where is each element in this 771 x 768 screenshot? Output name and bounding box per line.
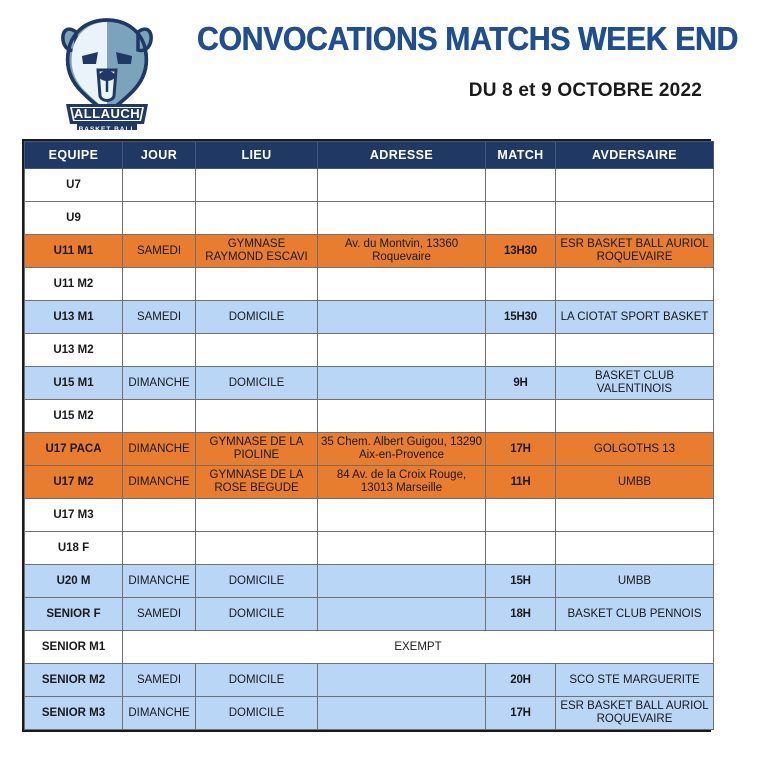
cell-adresse: [318, 301, 486, 334]
table-row: U15 M1DIMANCHEDOMICILE9HBASKET CLUB VALE…: [25, 367, 714, 400]
bear-head-icon: ALLAUCH BASKET BALL: [52, 12, 162, 130]
table-row: U11 M1SAMEDIGYMNASE RAYMOND ESCAVIAv. du…: [25, 235, 714, 268]
cell-adversaire: LA CIOTAT SPORT BASKET: [556, 301, 714, 334]
logo-club-name: ALLAUCH: [74, 106, 140, 121]
club-logo: ALLAUCH BASKET BALL: [52, 12, 162, 130]
cell-lieu: DOMICILE: [196, 565, 318, 598]
cell-adresse: 84 Av. de la Croix Rouge, 13013 Marseill…: [318, 466, 486, 499]
cell-lieu: [196, 400, 318, 433]
cell-match: [486, 169, 556, 202]
cell-lieu: [196, 532, 318, 565]
column-header-match: MATCH: [486, 142, 556, 169]
cell-match: [486, 499, 556, 532]
cell-equipe: U11 M1: [25, 235, 123, 268]
cell-equipe: SENIOR M2: [25, 664, 123, 697]
cell-adresse: [318, 334, 486, 367]
cell-lieu: GYMNASE DE LA PIOLINE: [196, 433, 318, 466]
table-row: U17 M2DIMANCHEGYMNASE DE LA ROSE BEGUDE8…: [25, 466, 714, 499]
table-row: U15 M2: [25, 400, 714, 433]
cell-adresse: [318, 598, 486, 631]
column-header-jour: JOUR: [123, 142, 196, 169]
cell-match: [486, 532, 556, 565]
cell-equipe: U11 M2: [25, 268, 123, 301]
cell-adversaire: BASKET CLUB VALENTINOIS: [556, 367, 714, 400]
table-row: U20 MDIMANCHEDOMICILE15HUMBB: [25, 565, 714, 598]
cell-match: 15H30: [486, 301, 556, 334]
column-header-equipe: EQUIPE: [25, 142, 123, 169]
cell-match: 17H: [486, 697, 556, 730]
cell-adversaire: [556, 268, 714, 301]
cell-jour: [123, 334, 196, 367]
cell-match: 18H: [486, 598, 556, 631]
cell-jour: [123, 400, 196, 433]
cell-adresse: [318, 565, 486, 598]
cell-adresse: [318, 499, 486, 532]
cell-adresse: [318, 664, 486, 697]
cell-lieu: DOMICILE: [196, 301, 318, 334]
cell-jour: DIMANCHE: [123, 697, 196, 730]
cell-adversaire: UMBB: [556, 565, 714, 598]
table-row: SENIOR FSAMEDIDOMICILE18HBASKET CLUB PEN…: [25, 598, 714, 631]
cell-adversaire: [556, 202, 714, 235]
cell-lieu: GYMNASE DE LA ROSE BEGUDE: [196, 466, 318, 499]
cell-adresse: 35 Chem. Albert Guigou, 13290 Aix-en-Pro…: [318, 433, 486, 466]
cell-jour: SAMEDI: [123, 301, 196, 334]
cell-adversaire: SCO STE MARGUERITE: [556, 664, 714, 697]
cell-lieu: [196, 169, 318, 202]
cell-adversaire: [556, 334, 714, 367]
table-row: U17 M3: [25, 499, 714, 532]
schedule-table-container: EQUIPEJOURLIEUADRESSEMATCHAVDERSAIRE U7U…: [22, 139, 711, 732]
table-row: U13 M1SAMEDIDOMICILE15H30LA CIOTAT SPORT…: [25, 301, 714, 334]
cell-jour: DIMANCHE: [123, 466, 196, 499]
schedule-table: EQUIPEJOURLIEUADRESSEMATCHAVDERSAIRE U7U…: [24, 141, 714, 730]
cell-lieu: [196, 268, 318, 301]
cell-equipe: U13 M2: [25, 334, 123, 367]
cell-equipe: U9: [25, 202, 123, 235]
cell-jour: SAMEDI: [123, 598, 196, 631]
table-header-row: EQUIPEJOURLIEUADRESSEMATCHAVDERSAIRE: [25, 142, 714, 169]
cell-equipe: U15 M2: [25, 400, 123, 433]
cell-equipe: U17 M3: [25, 499, 123, 532]
page-subtitle-date: DU 8 et 9 OCTOBRE 2022: [175, 80, 720, 102]
cell-equipe: SENIOR M1: [25, 631, 123, 664]
table-row: U18 F: [25, 532, 714, 565]
cell-match: 9H: [486, 367, 556, 400]
cell-adversaire: UMBB: [556, 466, 714, 499]
cell-adversaire: [556, 499, 714, 532]
cell-lieu: DOMICILE: [196, 598, 318, 631]
cell-adversaire: ESR BASKET BALL AURIOL ROQUEVAIRE: [556, 235, 714, 268]
cell-jour: [123, 499, 196, 532]
cell-adversaire: BASKET CLUB PENNOIS: [556, 598, 714, 631]
cell-equipe: U17 M2: [25, 466, 123, 499]
cell-adresse: [318, 367, 486, 400]
page-title: CONVOCATIONS MATCHS WEEK END: [197, 20, 698, 58]
cell-equipe: U15 M1: [25, 367, 123, 400]
cell-jour: [123, 202, 196, 235]
cell-equipe: SENIOR F: [25, 598, 123, 631]
cell-match: [486, 400, 556, 433]
table-row: U11 M2: [25, 268, 714, 301]
cell-equipe: SENIOR M3: [25, 697, 123, 730]
cell-match: 20H: [486, 664, 556, 697]
cell-match: [486, 202, 556, 235]
cell-equipe: U18 F: [25, 532, 123, 565]
cell-adversaire: GOLGOTHS 13: [556, 433, 714, 466]
cell-lieu: DOMICILE: [196, 697, 318, 730]
cell-lieu: [196, 334, 318, 367]
cell-equipe: U13 M1: [25, 301, 123, 334]
table-row: SENIOR M3DIMANCHEDOMICILE17HESR BASKET B…: [25, 697, 714, 730]
cell-adversaire: [556, 169, 714, 202]
cell-adresse: [318, 697, 486, 730]
cell-jour: DIMANCHE: [123, 565, 196, 598]
cell-lieu: [196, 499, 318, 532]
cell-lieu: [196, 202, 318, 235]
cell-lieu: DOMICILE: [196, 664, 318, 697]
cell-jour: DIMANCHE: [123, 367, 196, 400]
cell-exempt: EXEMPT: [123, 631, 714, 664]
cell-equipe: U17 PACA: [25, 433, 123, 466]
table-row: U9: [25, 202, 714, 235]
logo-club-sport: BASKET BALL: [79, 126, 136, 130]
cell-match: 13H30: [486, 235, 556, 268]
cell-adversaire: ESR BASKET BALL AURIOL ROQUEVAIRE: [556, 697, 714, 730]
cell-jour: SAMEDI: [123, 664, 196, 697]
cell-adresse: [318, 169, 486, 202]
table-row: U7: [25, 169, 714, 202]
cell-adresse: Av. du Montvin, 13360 Roquevaire: [318, 235, 486, 268]
cell-adversaire: [556, 400, 714, 433]
column-header-adresse: ADRESSE: [318, 142, 486, 169]
cell-jour: [123, 532, 196, 565]
cell-match: 17H: [486, 433, 556, 466]
cell-match: 15H: [486, 565, 556, 598]
cell-adresse: [318, 268, 486, 301]
table-row: U17 PACADIMANCHEGYMNASE DE LA PIOLINE35 …: [25, 433, 714, 466]
cell-adresse: [318, 532, 486, 565]
cell-jour: [123, 169, 196, 202]
page-header: ALLAUCH BASKET BALL CONVOCATIONS MATCHS …: [0, 0, 771, 132]
cell-lieu: GYMNASE RAYMOND ESCAVI: [196, 235, 318, 268]
cell-equipe: U20 M: [25, 565, 123, 598]
cell-equipe: U7: [25, 169, 123, 202]
cell-jour: [123, 268, 196, 301]
column-header-lieu: LIEU: [196, 142, 318, 169]
cell-match: [486, 268, 556, 301]
table-row: SENIOR M1EXEMPT: [25, 631, 714, 664]
column-header-avdersaire: AVDERSAIRE: [556, 142, 714, 169]
cell-lieu: DOMICILE: [196, 367, 318, 400]
cell-jour: DIMANCHE: [123, 433, 196, 466]
table-body: U7U9U11 M1SAMEDIGYMNASE RAYMOND ESCAVIAv…: [25, 169, 714, 730]
cell-jour: SAMEDI: [123, 235, 196, 268]
cell-match: 11H: [486, 466, 556, 499]
table-row: U13 M2: [25, 334, 714, 367]
cell-match: [486, 334, 556, 367]
title-block: CONVOCATIONS MATCHS WEEK END DU 8 et 9 O…: [175, 20, 720, 102]
cell-adresse: [318, 400, 486, 433]
cell-adversaire: [556, 532, 714, 565]
table-row: SENIOR M2SAMEDIDOMICILE20HSCO STE MARGUE…: [25, 664, 714, 697]
cell-adresse: [318, 202, 486, 235]
